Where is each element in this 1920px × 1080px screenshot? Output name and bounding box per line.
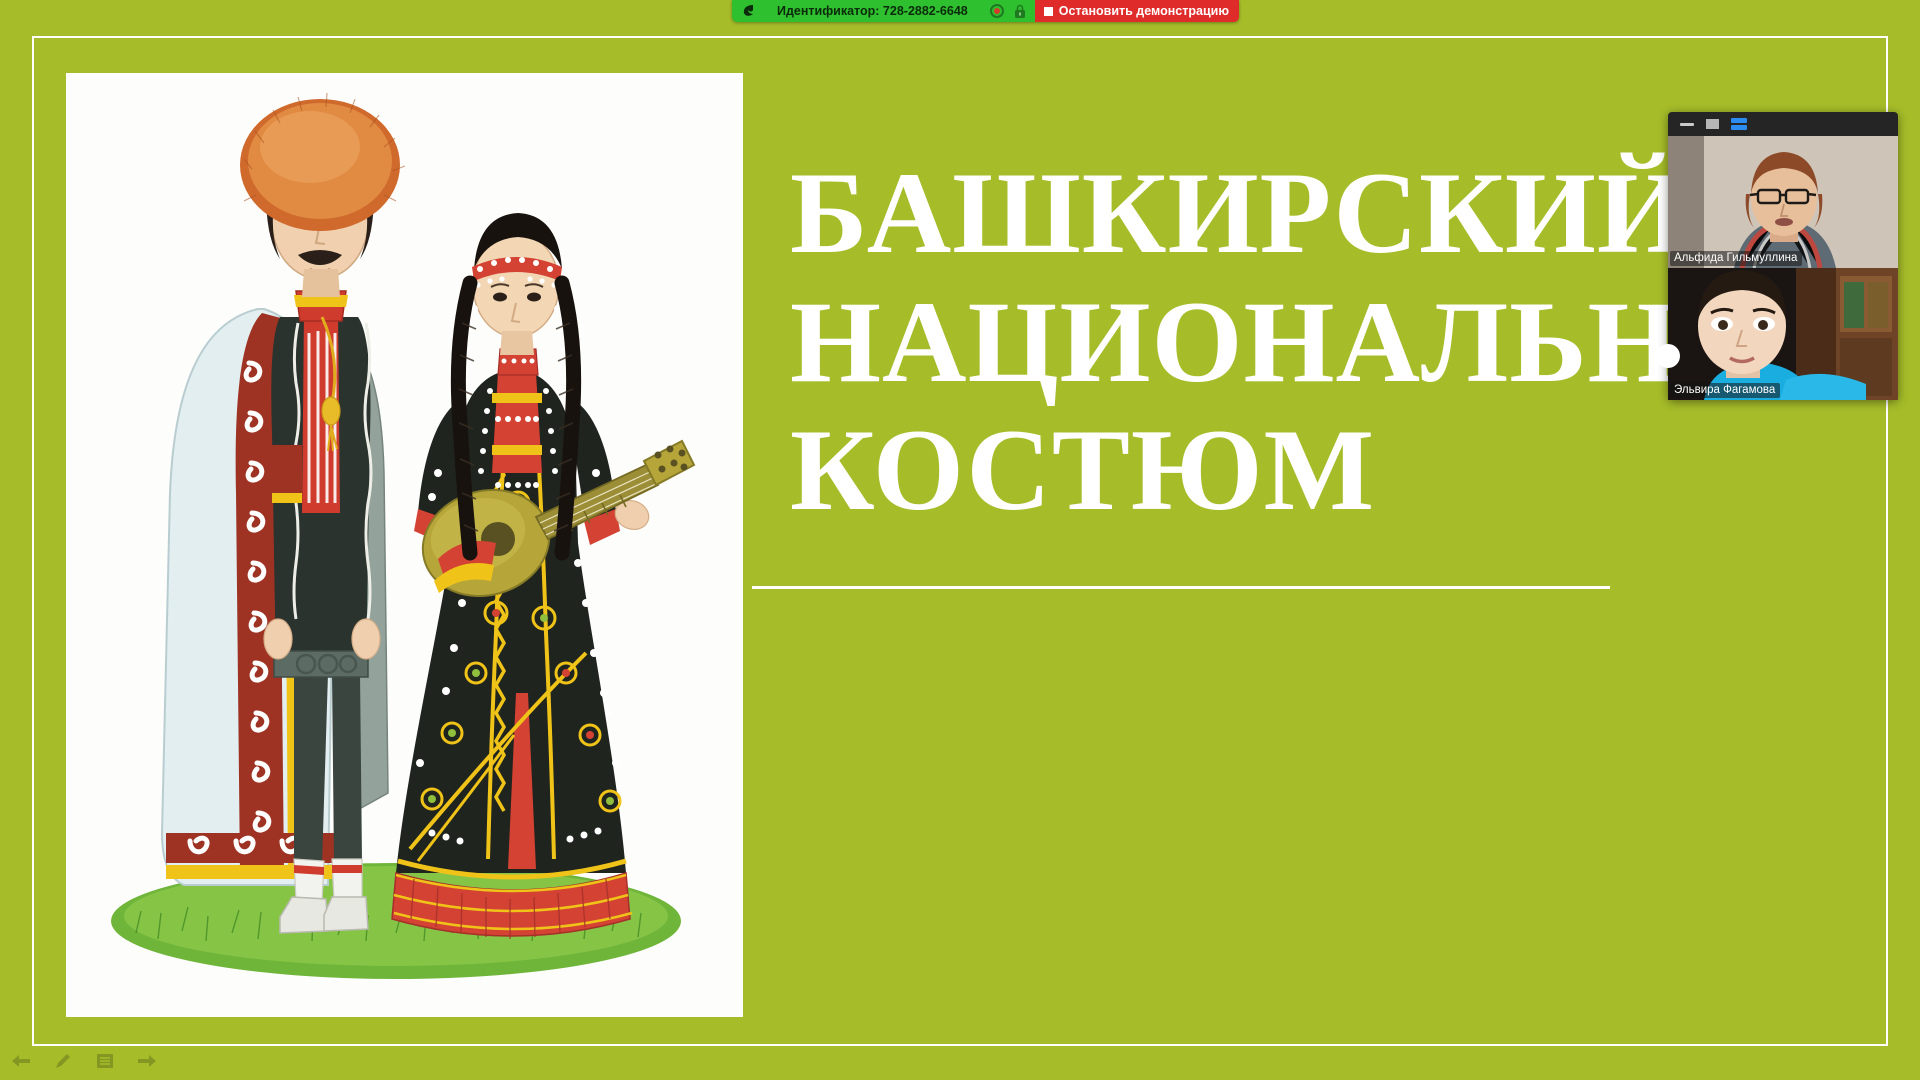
- participant-1-name: Альфида Гильмуллина: [1670, 251, 1802, 266]
- zoom-video-panel[interactable]: Альфида Гильмуллина: [1668, 112, 1898, 400]
- recording-indicator-icon[interactable]: [990, 4, 1004, 18]
- maximize-icon[interactable]: [1706, 119, 1719, 129]
- minimize-icon[interactable]: [1680, 123, 1694, 126]
- leaf-icon: [742, 4, 755, 18]
- stop-share-button[interactable]: Остановить демонстрацию: [1035, 0, 1239, 22]
- presentation-slide: БАШКИРСКИЙ НАЦИОНАЛЬНЫЙ КОСТЮМ: [0, 0, 1920, 1080]
- participant-2-video-frame: [1668, 268, 1898, 400]
- title-line-3: КОСТЮМ: [790, 407, 1810, 536]
- stop-share-label: Остановить демонстрацию: [1059, 4, 1229, 18]
- meeting-info-section: Идентификатор: 728-2882-6648: [732, 0, 1035, 22]
- stop-square-icon: [1044, 7, 1053, 16]
- zoom-screen-share-bar: Идентификатор: 728-2882-6648 Остановить …: [732, 0, 1239, 22]
- video-panel-controls: [1668, 112, 1898, 136]
- title-line-2: НАЦИОНАЛЬНЫЙ: [790, 279, 1810, 408]
- participant-2-name: Эльвира Фагамова: [1670, 383, 1780, 398]
- arrow-left-icon[interactable]: [8, 1050, 34, 1072]
- layout-view-icon[interactable]: [1731, 118, 1747, 131]
- meeting-id-label: Идентификатор: 728-2882-6648: [765, 4, 980, 18]
- bashkir-costume-illustration: [66, 73, 743, 1017]
- video-tile-participant-1[interactable]: Альфида Гильмуллина: [1668, 136, 1898, 268]
- lock-icon[interactable]: [1014, 4, 1026, 19]
- video-tile-participant-2[interactable]: Эльвира Фагамова: [1668, 268, 1898, 400]
- title-line-1: БАШКИРСКИЙ: [790, 150, 1810, 279]
- drag-handle-icon[interactable]: [1656, 344, 1680, 368]
- costume-artwork-icon: [66, 73, 743, 1017]
- page-title: БАШКИРСКИЙ НАЦИОНАЛЬНЫЙ КОСТЮМ: [790, 150, 1810, 536]
- arrow-right-icon[interactable]: [134, 1050, 160, 1072]
- list-menu-icon[interactable]: [92, 1050, 118, 1072]
- slide-title-block: БАШКИРСКИЙ НАЦИОНАЛЬНЫЙ КОСТЮМ: [790, 150, 1810, 536]
- annotation-toolbar[interactable]: [0, 1046, 168, 1076]
- pen-icon[interactable]: [50, 1050, 76, 1072]
- participant-1-video-frame: [1668, 136, 1898, 268]
- title-underline-rule: [752, 586, 1610, 589]
